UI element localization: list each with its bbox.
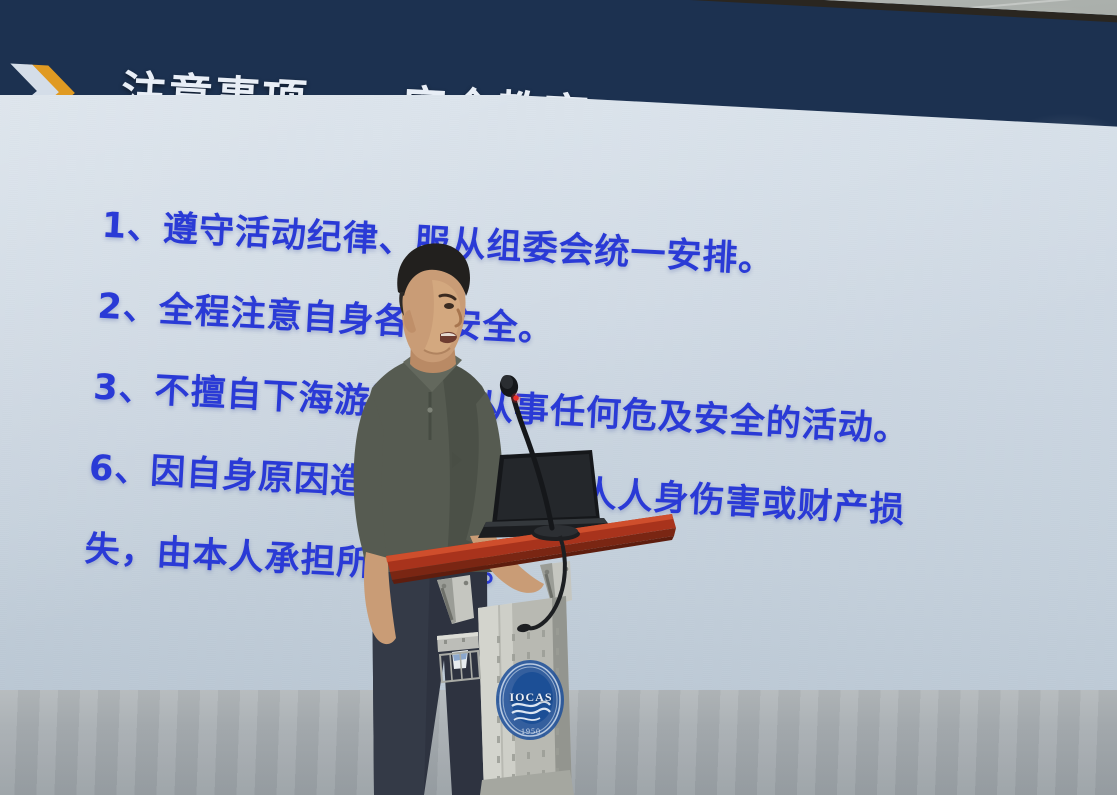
- presentation-photo-scene: 注意事项——安全教育 1、遵守活动纪律、服从组委会统一安排。 2、全程注意自身各…: [0, 0, 1117, 795]
- podium-side-shelf: [0, 0, 1117, 795]
